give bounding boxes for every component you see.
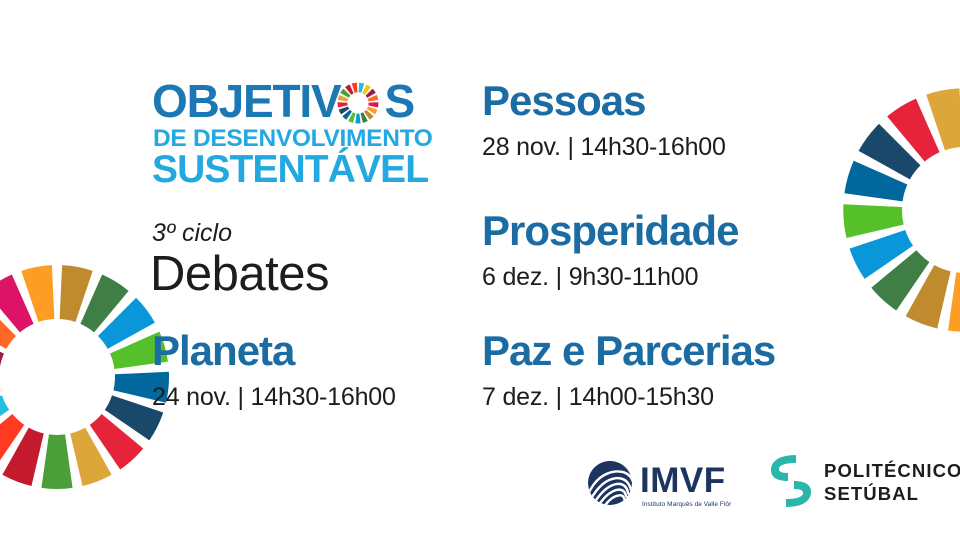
ciclo-kicker: 3º ciclo xyxy=(152,219,232,248)
poster-canvas: OBJETIVS DE DESENVOLVIMENTO SUSTENTÁVEL … xyxy=(0,0,960,534)
sdg-logo: OBJETIVS DE DESENVOLVIMENTO SUSTENTÁVEL xyxy=(152,78,424,194)
event-datetime: 7 dez. | 14h00-15h30 xyxy=(482,385,775,410)
sdg-logo-line-sustentavel: SUSTENTÁVEL xyxy=(152,150,428,189)
event-datetime: 28 nov. | 14h30-16h00 xyxy=(482,135,726,160)
setubal-line: SETÚBAL xyxy=(824,483,960,506)
politecnico-setubal-wordmark: POLITÉCNICO SETÚBAL xyxy=(824,460,960,505)
imvf-wordmark: IMVF xyxy=(640,463,726,498)
event-pessoas: Pessoas 28 nov. | 14h30-16h00 xyxy=(482,80,726,160)
politecnico-setubal-logo: POLITÉCNICO SETÚBAL xyxy=(766,450,946,516)
page-title: Debates xyxy=(150,246,329,302)
event-datetime: 6 dez. | 9h30-11h00 xyxy=(482,265,738,290)
sdg-color-wheel-right-decoration xyxy=(840,85,960,335)
ips-double-s-icon xyxy=(766,450,816,517)
sdg-logo-objetiv-text: OBJETIV xyxy=(152,75,340,127)
event-title: Pessoas xyxy=(482,80,726,122)
imvf-logo: IMVF Instituto Marquês de Valle Flôr xyxy=(586,457,746,519)
event-title: Planeta xyxy=(152,330,396,372)
imvf-spiral-globe-icon xyxy=(586,459,634,512)
sdg-color-wheel-left-decoration xyxy=(0,262,172,492)
event-prosperidade: Prosperidade 6 dez. | 9h30-11h00 xyxy=(482,210,738,290)
sdg-logo-s-text: S xyxy=(384,75,413,127)
sdg-color-wheel-icon xyxy=(337,82,379,129)
event-paz-e-parcerias: Paz e Parcerias 7 dez. | 14h00-15h30 xyxy=(482,330,775,410)
event-title: Paz e Parcerias xyxy=(482,330,775,372)
event-datetime: 24 nov. | 14h30-16h00 xyxy=(152,385,396,410)
imvf-tagline: Instituto Marquês de Valle Flôr xyxy=(642,501,731,508)
politecnico-line: POLITÉCNICO xyxy=(824,460,960,483)
event-planeta: Planeta 24 nov. | 14h30-16h00 xyxy=(152,330,396,410)
event-title: Prosperidade xyxy=(482,210,738,252)
